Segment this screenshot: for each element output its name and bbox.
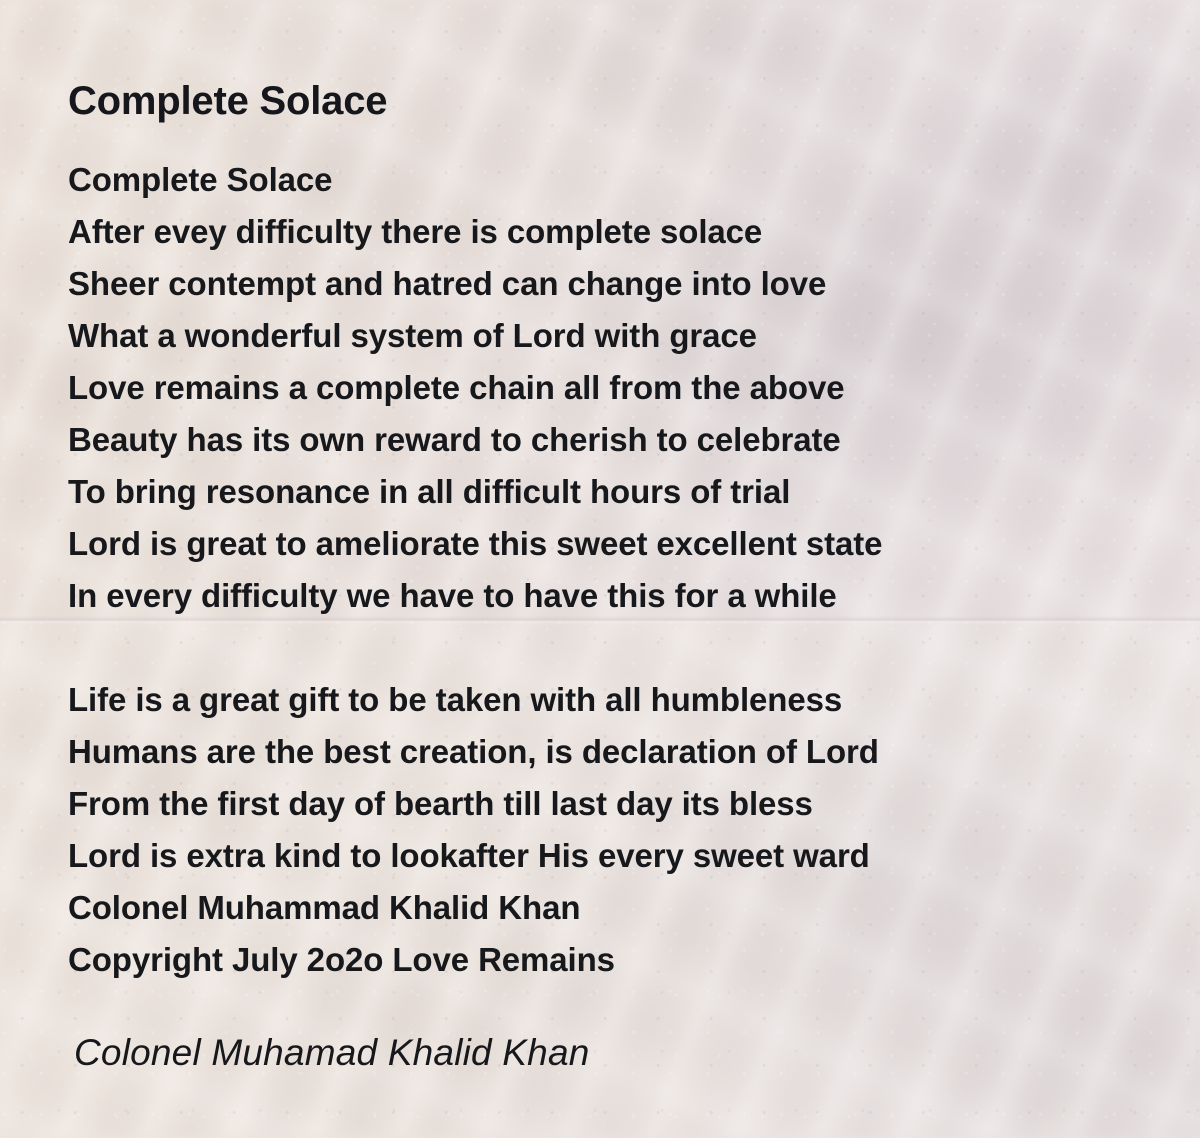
poem-text-body: Complete Solace After evey difficulty th… xyxy=(68,154,1128,986)
poem-line: Life is a great gift to be taken with al… xyxy=(68,674,1128,726)
poem-line: Humans are the best creation, is declara… xyxy=(68,726,1128,778)
poem-line: Sheer contempt and hatred can change int… xyxy=(68,258,1128,310)
poem-line: To bring resonance in all difficult hour… xyxy=(68,466,1128,518)
page-title: Complete Solace xyxy=(68,79,387,124)
poem-line: Lord is great to ameliorate this sweet e… xyxy=(68,518,1128,570)
stanza-2: Life is a great gift to be taken with al… xyxy=(68,674,1128,986)
poem-page: Complete Solace Complete Solace After ev… xyxy=(0,0,1200,1138)
poem-line: After evey difficulty there is complete … xyxy=(68,206,1128,258)
poem-copyright-line: Copyright July 2o2o Love Remains xyxy=(68,934,1128,986)
poem-line: Beauty has its own reward to cherish to … xyxy=(68,414,1128,466)
poem-author-line: Colonel Muhammad Khalid Khan xyxy=(68,882,1128,934)
poem-line: Complete Solace xyxy=(68,154,1128,206)
poem-line: What a wonderful system of Lord with gra… xyxy=(68,310,1128,362)
stanza-1: Complete Solace After evey difficulty th… xyxy=(68,154,1128,622)
stanza-separator xyxy=(68,622,1128,674)
poem-line: Love remains a complete chain all from t… xyxy=(68,362,1128,414)
poem-line: In every difficulty we have to have this… xyxy=(68,570,1128,622)
author-signature: Colonel Muhamad Khalid Khan xyxy=(74,1032,590,1074)
poem-line: From the first day of bearth till last d… xyxy=(68,778,1128,830)
poem-line: Lord is extra kind to lookafter His ever… xyxy=(68,830,1128,882)
